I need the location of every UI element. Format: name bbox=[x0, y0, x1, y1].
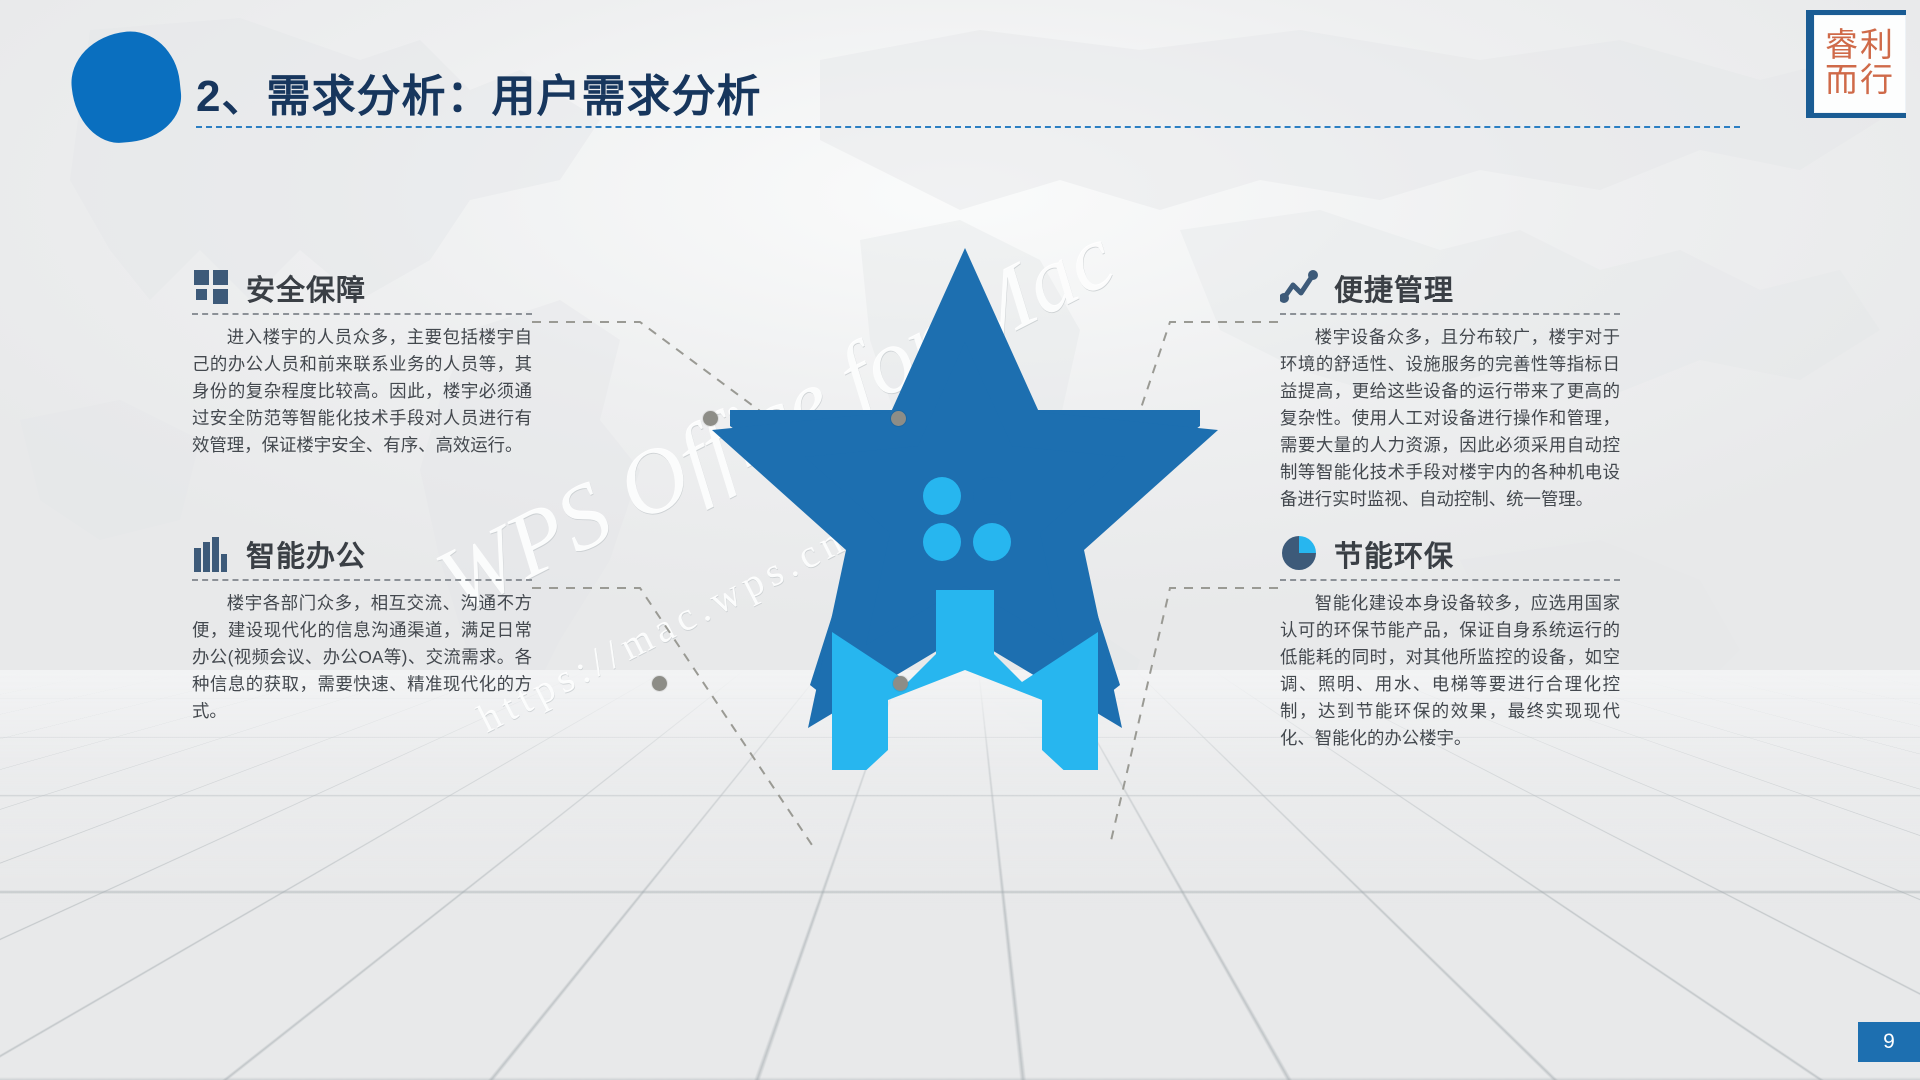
connector-dot-office bbox=[652, 676, 667, 691]
page-number-badge: 9 bbox=[1858, 1022, 1920, 1062]
trend-line-icon bbox=[1280, 268, 1320, 308]
four-squares-icon bbox=[192, 268, 232, 308]
panel-divider-energy bbox=[1280, 579, 1620, 581]
star-center-dot-2 bbox=[973, 477, 1011, 515]
header-divider bbox=[196, 126, 1740, 128]
panel-divider-manage bbox=[1280, 313, 1620, 315]
logo-line-1: 睿利 bbox=[1825, 29, 1895, 64]
panel-body-safety: 进入楼宇的人员众多，主要包括楼宇自己的办公人员和前来联系业务的人员等，其身份的复… bbox=[192, 324, 532, 459]
star-center-dot-1 bbox=[923, 477, 961, 515]
pie-chart-icon bbox=[1280, 534, 1320, 574]
star-center-dot-4 bbox=[973, 523, 1011, 561]
star-illustration bbox=[640, 230, 1290, 770]
panel-energy: 节能环保 智能化建设本身设备较多，应选用国家认可的环保节能产品，保证自身系统运行… bbox=[1280, 528, 1620, 752]
panel-divider-office bbox=[192, 579, 532, 581]
panel-office: 智能办公 楼宇各部门众多，相互交流、沟通不方便，建设现代化的信息沟通渠道，满足日… bbox=[192, 528, 532, 725]
panel-divider-safety bbox=[192, 313, 532, 315]
slide-canvas: WPS Office for Mac https://mac.wps.cn 2、… bbox=[0, 0, 1920, 1080]
panel-body-energy: 智能化建设本身设备较多，应选用国家认可的环保节能产品，保证自身系统运行的低能耗的… bbox=[1280, 590, 1620, 752]
logo-line-2: 而行 bbox=[1825, 64, 1895, 99]
connector-dot-energy bbox=[893, 676, 908, 691]
panel-manage: 便捷管理 楼宇设备众多，且分布较广，楼宇对于环境的舒适性、设施服务的完善性等指标… bbox=[1280, 262, 1620, 513]
star-center-dot-3 bbox=[923, 523, 961, 561]
page-title: 2、需求分析：用户需求分析 bbox=[196, 60, 761, 124]
connector-dot-manage bbox=[891, 411, 906, 426]
panel-title-energy: 节能环保 bbox=[1334, 543, 1454, 574]
bar-chart-icon bbox=[192, 534, 232, 574]
panel-body-office: 楼宇各部门众多，相互交流、沟通不方便，建设现代化的信息沟通渠道，满足日常办公(视… bbox=[192, 590, 532, 725]
panel-title-safety: 安全保障 bbox=[246, 277, 366, 308]
panel-safety: 安全保障 进入楼宇的人员众多，主要包括楼宇自己的办公人员和前来联系业务的人员等，… bbox=[192, 262, 532, 459]
panel-title-office: 智能办公 bbox=[246, 543, 366, 574]
company-logo: 睿利 而行 bbox=[1806, 10, 1906, 118]
panel-title-manage: 便捷管理 bbox=[1334, 277, 1454, 308]
connector-dot-safety bbox=[703, 411, 718, 426]
panel-body-manage: 楼宇设备众多，且分布较广，楼宇对于环境的舒适性、设施服务的完善性等指标日益提高，… bbox=[1280, 324, 1620, 513]
